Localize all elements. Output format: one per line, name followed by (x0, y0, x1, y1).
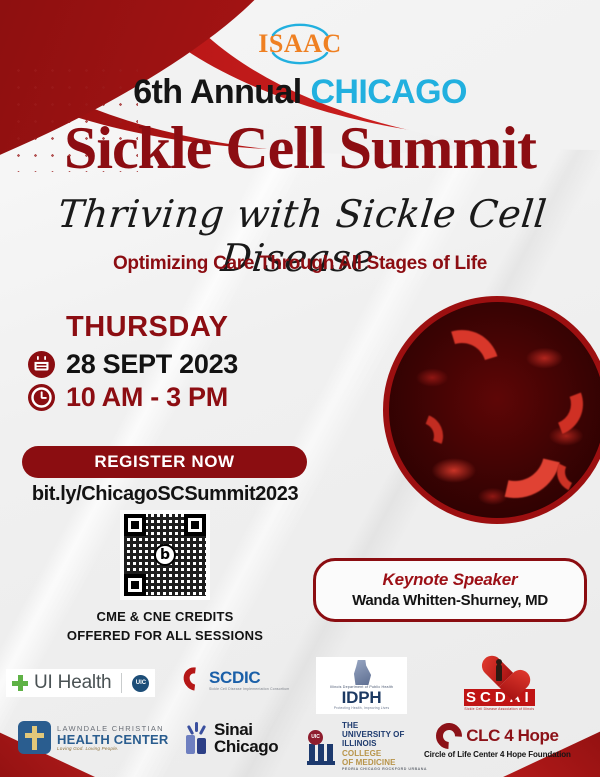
sponsor-uic-college-of-medicine: UIC THE UNIVERSITY OF ILLINOIS COLLEGE O… (306, 721, 427, 771)
heart-icon (480, 657, 518, 690)
keynote-title: Keynote Speaker (326, 570, 574, 590)
sponsor-logos: UI Health UIC SCDIC Sickle Cell Disease … (0, 655, 600, 777)
credits-note: CME & CNE CREDITS OFFERED FOR ALL SESSIO… (0, 608, 330, 646)
uic-seal-icon: UIC (308, 730, 323, 745)
scdai-name: SCDAI (464, 689, 535, 706)
keynote-card: Keynote Speaker Wanda Whitten-Shurney, M… (313, 558, 587, 622)
illinois-state-icon (352, 660, 371, 685)
uic-line-2: UNIVERSITY OF (342, 730, 427, 739)
ui-health-cross-icon (12, 675, 28, 691)
lawndale-line-2: HEALTH CENTER (57, 733, 168, 746)
isaac-logo: ISAAC (0, 22, 600, 66)
event-flyer: ISAAC 6th Annual CHICAGO Sickle Cell Sum… (0, 0, 600, 777)
isaac-arc-bottom-icon (271, 52, 329, 66)
bitly-logo-icon: b (154, 544, 176, 566)
clock-icon (28, 384, 55, 411)
idph-name: IDPH (342, 689, 382, 706)
event-day: THURSDAY (66, 311, 228, 344)
sponsor-scdic: SCDIC Sickle Cell Disease Implementation… (184, 667, 289, 691)
sponsor-sinai-chicago: Sinai Chicago (186, 721, 278, 756)
sickle-cell-photo (383, 296, 600, 524)
register-button[interactable]: REGISTER NOW (22, 446, 307, 478)
isaac-arc-top-icon (271, 22, 329, 36)
sinai-mark-icon (186, 722, 208, 754)
lawndale-cross-badge-icon (18, 721, 51, 754)
registration-url[interactable]: bit.ly/ChicagoSCSummit2023 (0, 483, 330, 506)
event-time: 10 AM - 3 PM (66, 382, 228, 413)
sponsor-idph: Illinois Department of Public Health IDP… (316, 657, 407, 714)
ui-health-name: UI Health (34, 672, 111, 694)
idph-bottom-text: Protecting Health, Improving Lives (334, 706, 389, 710)
calendar-icon (28, 351, 55, 378)
clc-swirl-icon (431, 718, 468, 755)
uic-line-1: THE (342, 721, 427, 730)
edition-city: CHICAGO (310, 73, 466, 111)
subtitle: Optimizing Care Through All Stages of Li… (0, 253, 600, 275)
uic-badge-icon: UIC (132, 675, 149, 692)
lawndale-health: HEALTH (57, 732, 114, 747)
scdic-name: SCDIC (209, 668, 289, 688)
scdic-subtitle: Sickle Cell Disease Implementation Conso… (209, 687, 289, 691)
uic-columns-icon: UIC (306, 728, 336, 765)
event-time-row: 10 AM - 3 PM (28, 382, 228, 413)
clc-name: CLC 4 Hope (466, 726, 558, 746)
qr-code[interactable]: b (120, 510, 210, 600)
event-date-row: 28 SEPT 2023 (28, 349, 238, 380)
sponsor-clc-4-hope: CLC 4 Hope Circle of Life Center 4 Hope … (424, 723, 571, 759)
edition-prefix: 6th Annual (133, 73, 310, 111)
uic-campuses: PEORIA CHICAGO ROCKFORD URBANA (342, 767, 427, 771)
clc-subtitle: Circle of Life Center 4 Hope Foundation (424, 750, 571, 759)
page-title: Sickle Cell Summit (0, 118, 600, 178)
credits-line-2: OFFERED FOR ALL SESSIONS (0, 627, 330, 646)
scdic-crescent-icon (179, 663, 211, 695)
scdai-subtitle: Sickle Cell Disease Association of Illin… (464, 707, 534, 711)
event-edition-line: 6th Annual CHICAGO (0, 73, 600, 112)
sponsor-lawndale-christian-health-center: LAWNDALE CHRISTIAN HEALTH CENTER Loving … (18, 721, 168, 754)
lawndale-center: CENTER (114, 732, 169, 747)
uic-line-5: OF MEDICINE (342, 758, 427, 767)
credits-line-1: CME & CNE CREDITS (0, 608, 330, 627)
sponsor-ui-health: UI Health UIC (6, 669, 155, 697)
sponsor-scdai: SCDAI Sickle Cell Disease Association of… (464, 657, 535, 711)
sinai-line-2: Chicago (214, 738, 278, 755)
sinai-line-1: Sinai (214, 721, 278, 738)
keynote-speaker-name: Wanda Whitten-Shurney, MD (326, 592, 574, 609)
event-date: 28 SEPT 2023 (66, 349, 238, 380)
uic-line-4: COLLEGE (342, 749, 427, 758)
uic-line-3: ILLINOIS (342, 739, 427, 748)
